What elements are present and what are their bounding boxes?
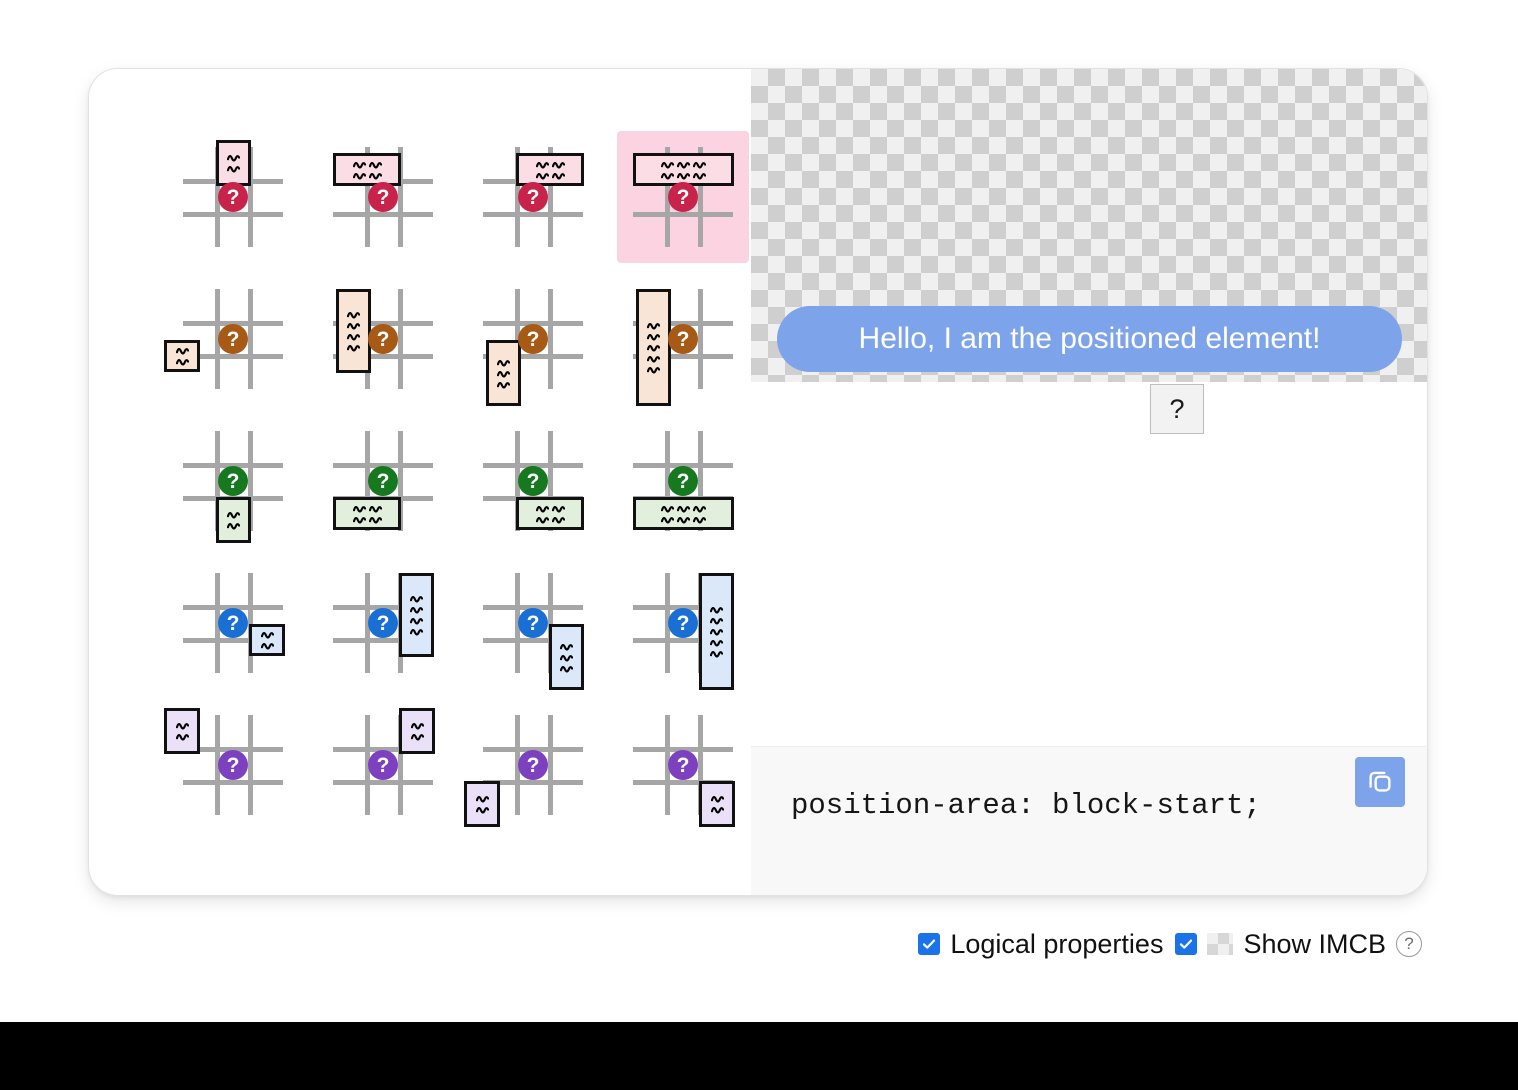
position-area-option[interactable]: ? [317,131,449,263]
positioned-box-preview [164,708,200,754]
squiggle-line [410,594,423,603]
squiggle-line [476,794,489,803]
positioned-box-preview [464,781,500,827]
anchor-marker-icon: ? [518,324,548,354]
position-area-option[interactable]: ? [317,415,449,547]
squiggle-line [560,642,573,651]
anchor-marker-icon: ? [368,182,398,212]
squiggle-line [560,653,573,662]
squiggle-line [261,641,274,650]
show-imcb-checkbox[interactable] [1175,933,1197,955]
squiggle-line [661,160,706,169]
anchor-marker-icon: ? [518,750,548,780]
squiggle-line [347,321,360,330]
anchor-marker-icon: ? [518,182,548,212]
anchor-marker-icon: ? [368,466,398,496]
squiggle-line [353,504,382,513]
squiggle-line [536,171,565,180]
squiggle-line [410,627,423,636]
squiggle-line [661,504,706,513]
checkmark-icon [1178,936,1194,952]
positioned-box-preview [333,497,401,530]
anchor-element[interactable]: ? [1150,384,1204,434]
squiggle-line [176,346,189,355]
squiggle-line [710,638,723,647]
squiggle-line [536,515,565,524]
position-area-option[interactable]: ? [167,131,299,263]
positioned-element-bubble: Hello, I am the positioned element! [777,306,1402,372]
squiggle-line [227,153,240,162]
imcb-swatch-icon [1207,933,1233,955]
positioned-box-preview [486,340,521,406]
position-area-option[interactable]: ? [617,131,749,263]
positioned-box-preview [216,497,251,543]
squiggle-line [536,504,565,513]
squiggle-line [647,343,660,352]
squiggle-line [410,605,423,614]
anchor-marker-icon: ? [368,324,398,354]
position-area-option[interactable]: ? [467,131,599,263]
squiggle-line [347,343,360,352]
squiggle-line [411,732,424,741]
position-area-option[interactable]: ? [167,415,299,547]
inset-modified-containing-block-overlay: Hello, I am the positioned element! [751,69,1428,382]
squiggle-line [261,630,274,639]
show-imcb-label: Show IMCB [1243,929,1386,960]
squiggle-line [227,521,240,530]
squiggle-line [647,354,660,363]
position-area-option[interactable]: ? [467,415,599,547]
squiggle-line [227,510,240,519]
squiggle-line [497,369,510,378]
positioned-box-preview [699,573,734,690]
squiggle-line [661,171,706,180]
positioned-box-preview [516,497,584,530]
position-area-option[interactable]: ? [317,699,449,831]
squiggle-line [476,805,489,814]
position-area-option-grid[interactable]: ???????????????????? [167,131,749,831]
position-area-option[interactable]: ? [467,557,599,689]
checkmark-icon [921,936,937,952]
squiggle-line [710,649,723,658]
positioned-box-preview [333,153,401,186]
squiggle-line [560,664,573,673]
positioned-box-preview [636,289,671,406]
squiggle-line [176,721,189,730]
copy-icon [1365,766,1395,799]
anchor-marker-icon: ? [218,608,248,638]
squiggle-line [711,805,724,814]
position-area-option[interactable]: ? [167,699,299,831]
anchor-marker-icon: ? [518,466,548,496]
positioned-box-preview [249,624,285,656]
positioned-box-preview [399,573,434,657]
anchor-marker-icon: ? [668,182,698,212]
show-imcb-control[interactable]: Show IMCB ? [1175,929,1422,960]
position-area-option[interactable]: ? [617,557,749,689]
position-area-option[interactable]: ? [167,557,299,689]
anchor-marker-icon: ? [218,182,248,212]
squiggle-line [647,365,660,374]
squiggle-line [353,160,382,169]
position-area-options-pane: ???????????????????? [89,69,751,896]
squiggle-line [710,627,723,636]
squiggle-line [411,721,424,730]
position-area-option[interactable]: ? [467,699,599,831]
squiggle-line [661,515,706,524]
logical-properties-checkbox[interactable] [918,933,940,955]
positioned-box-preview [399,708,435,754]
anchor-marker-icon: ? [218,324,248,354]
squiggle-line [497,380,510,389]
positioned-box-preview [336,289,371,373]
logical-properties-label: Logical properties [950,929,1163,960]
position-area-visualizer-card: ???????????????????? Hello, I am the pos… [88,68,1428,896]
squiggle-line [227,164,240,173]
squiggle-line [347,310,360,319]
squiggle-line [647,332,660,341]
position-area-option[interactable]: ? [317,557,449,689]
position-area-option[interactable]: ? [317,273,449,405]
preview-pane: Hello, I am the positioned element! ? po… [751,69,1428,896]
positioned-box-preview [216,140,251,186]
position-area-option[interactable]: ? [167,273,299,405]
css-declaration-text: position-area: block-start; [791,789,1261,822]
positioned-box-preview [633,497,734,530]
anchor-marker-icon: ? [518,608,548,638]
logical-properties-control[interactable]: Logical properties [918,929,1163,960]
squiggle-line [353,515,382,524]
position-area-option[interactable]: ? [617,273,749,405]
anchor-marker-icon: ? [668,324,698,354]
position-area-option[interactable]: ? [467,273,599,405]
squiggle-line [353,171,382,180]
squiggle-line [710,616,723,625]
anchor-marker-icon: ? [218,750,248,780]
anchor-marker-icon: ? [668,750,698,780]
help-icon[interactable]: ? [1396,931,1422,957]
position-area-option[interactable]: ? [617,415,749,547]
anchor-marker-icon: ? [668,466,698,496]
positioned-box-preview [699,781,735,827]
squiggle-line [536,160,565,169]
positioned-box-preview [516,153,584,186]
squiggle-line [647,321,660,330]
squiggle-line [176,732,189,741]
positioned-box-preview [549,624,584,690]
anchor-marker-icon: ? [218,466,248,496]
squiggle-line [711,794,724,803]
squiggle-line [497,358,510,367]
visualizer-controls: Logical properties Show IMCB ? [88,916,1428,972]
anchor-marker-icon: ? [368,608,398,638]
squiggle-line [347,332,360,341]
screen-bottom-bar [0,1022,1518,1090]
code-panel: position-area: block-start; [751,746,1428,896]
squiggle-line [710,605,723,614]
app-root: ???????????????????? Hello, I am the pos… [0,0,1518,1090]
anchor-marker-icon: ? [668,608,698,638]
anchor-marker-icon: ? [368,750,398,780]
position-area-option[interactable]: ? [617,699,749,831]
squiggle-line [410,616,423,625]
squiggle-line [176,357,189,366]
copy-code-button[interactable] [1355,757,1405,807]
positioned-box-preview [164,340,200,372]
